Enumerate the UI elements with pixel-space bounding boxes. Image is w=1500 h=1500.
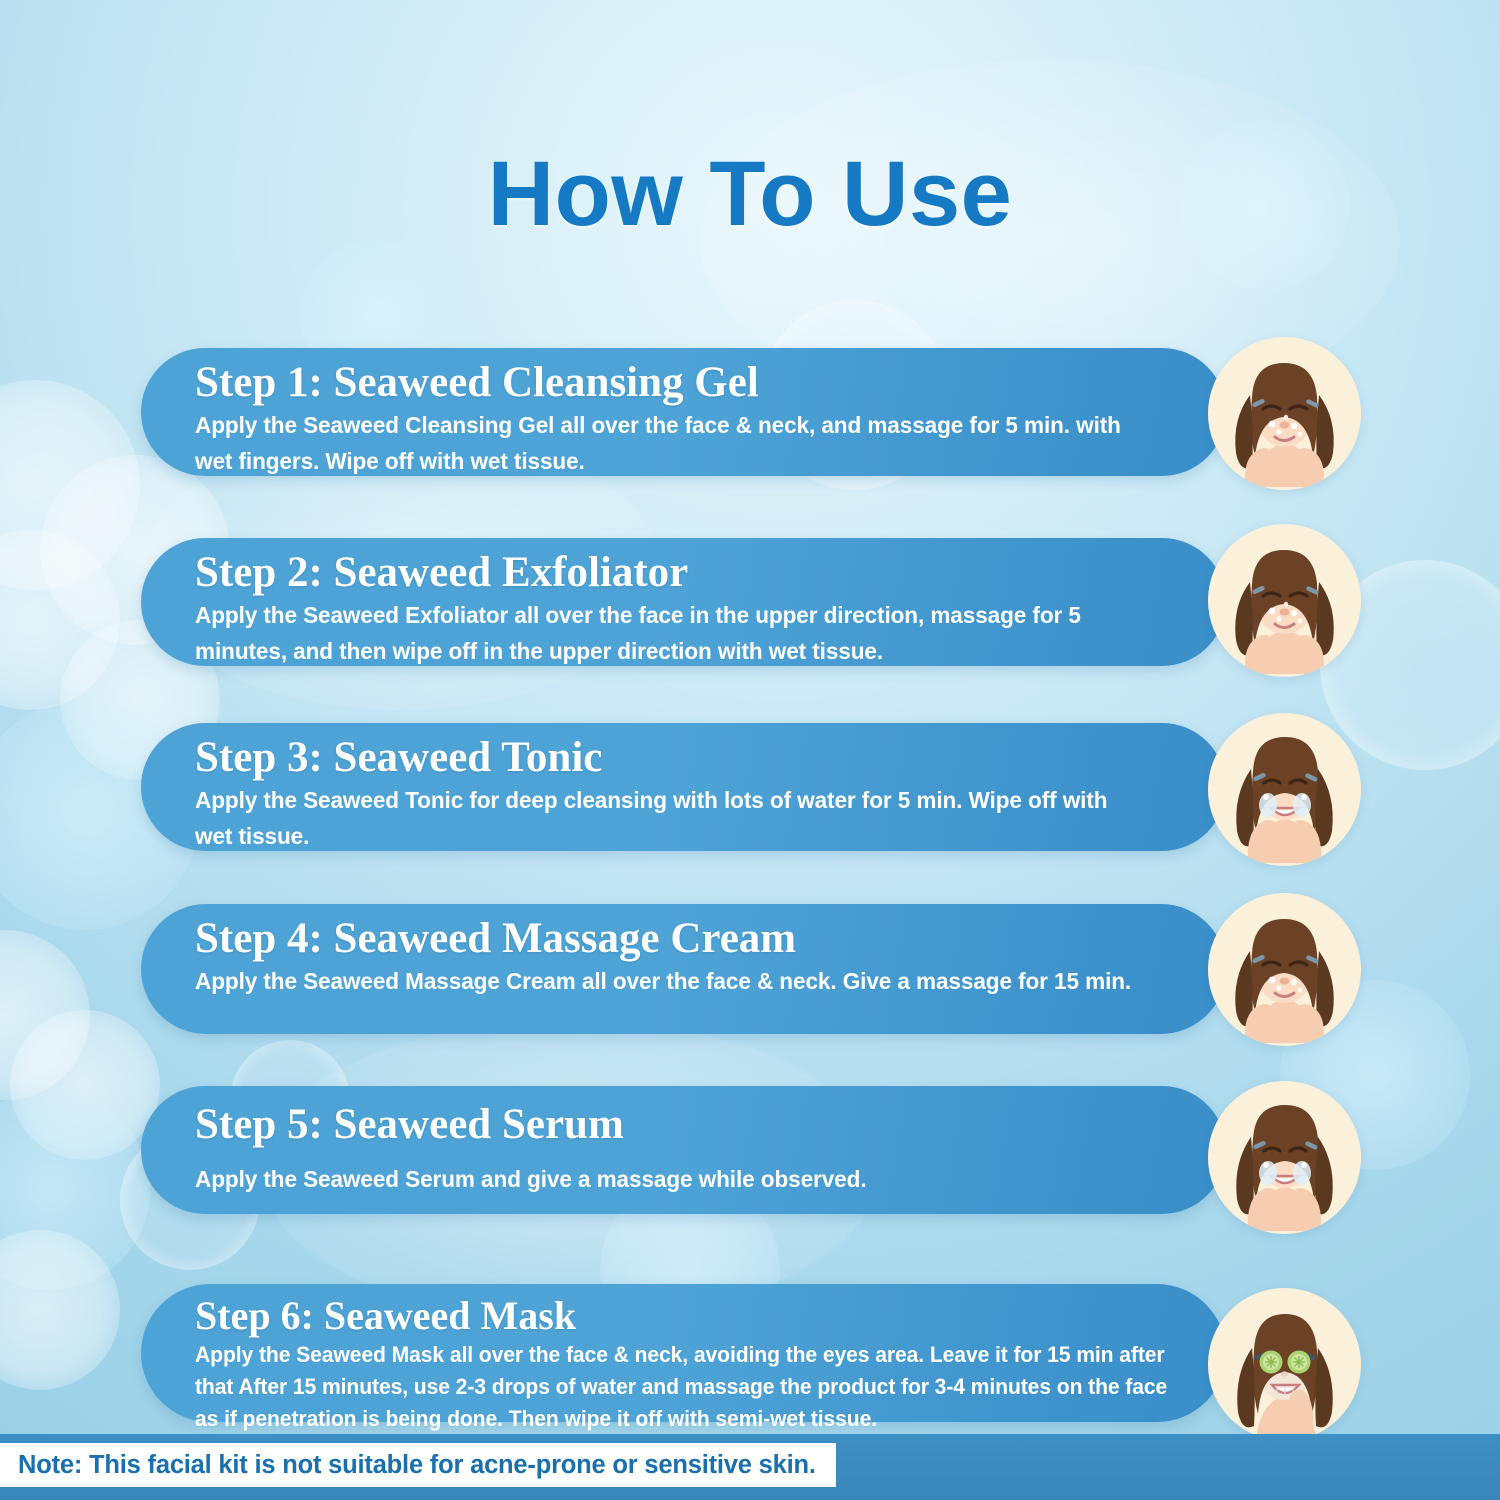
step-title: Step 4: Seaweed Massage Cream — [195, 916, 1190, 962]
step-bar: Step 6: Seaweed Mask Apply the Seaweed M… — [141, 1284, 1226, 1422]
step-description: Apply the Seaweed Cleansing Gel all over… — [195, 408, 1150, 479]
step-title: Step 5: Seaweed Serum — [195, 1102, 1190, 1148]
step-title: Step 1: Seaweed Cleansing Gel — [195, 360, 1190, 406]
steps-list: Step 1: Seaweed Cleansing Gel Apply the … — [0, 0, 1500, 1500]
step-title: Step 2: Seaweed Exfoliator — [195, 550, 1190, 596]
step-description: Apply the Seaweed Tonic for deep cleansi… — [195, 783, 1150, 854]
step-description: Apply the Seaweed Mask all over the face… — [195, 1339, 1169, 1435]
step-title: Step 3: Seaweed Tonic — [195, 735, 1190, 781]
step-bar: Step 3: Seaweed Tonic Apply the Seaweed … — [141, 723, 1226, 851]
woman-washing-face-icon — [1208, 713, 1361, 866]
woman-washing-face-icon — [1208, 524, 1361, 677]
step-bar: Step 2: Seaweed Exfoliator Apply the Sea… — [141, 538, 1226, 666]
woman-cucumber-mask-icon — [1208, 1288, 1361, 1441]
woman-washing-face-icon — [1208, 337, 1361, 490]
step-bar: Step 5: Seaweed Serum Apply the Seaweed … — [141, 1086, 1226, 1214]
step-description: Apply the Seaweed Exfoliator all over th… — [195, 598, 1150, 669]
how-to-use-infographic: How To Use Step 1: Seaweed Cleansing Gel… — [0, 0, 1500, 1500]
step-bar: Step 4: Seaweed Massage Cream Apply the … — [141, 904, 1226, 1034]
note-box: Note: This facial kit is not suitable fo… — [0, 1443, 836, 1487]
step-title: Step 6: Seaweed Mask — [195, 1294, 1210, 1337]
step-description: Apply the Seaweed Massage Cream all over… — [195, 964, 1150, 1000]
note-text: Note: This facial kit is not suitable fo… — [0, 1451, 816, 1480]
woman-washing-face-icon — [1208, 1081, 1361, 1234]
step-description: Apply the Seaweed Serum and give a massa… — [195, 1162, 1150, 1198]
woman-washing-face-icon — [1208, 893, 1361, 1046]
step-bar: Step 1: Seaweed Cleansing Gel Apply the … — [141, 348, 1226, 476]
